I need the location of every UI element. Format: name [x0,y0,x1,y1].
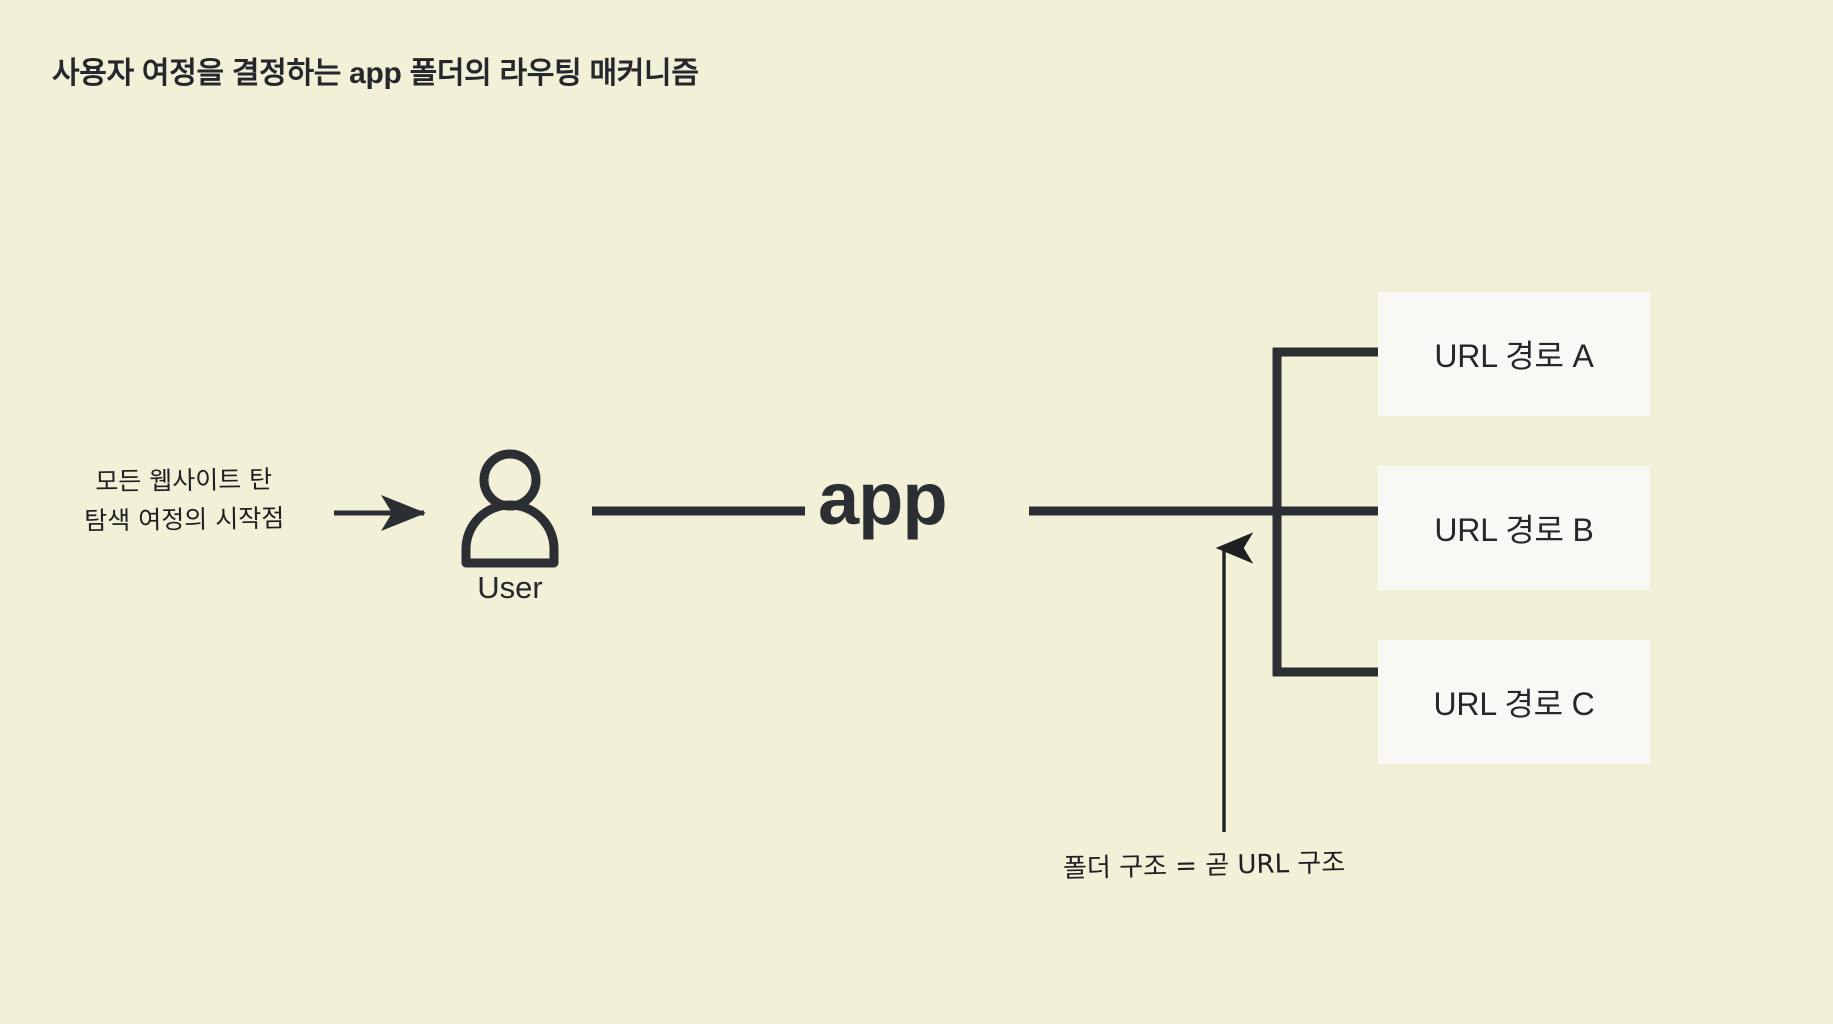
url-path-box-c[interactable]: URL 경로 C [1378,640,1650,764]
annotation-folder-structure: 폴더 구조 = 곧 URL 구조 [1063,842,1346,885]
annotation-start-point: 모든 웹사이트 탄 탐색 여정의 시작점 [47,460,320,541]
url-path-box-a[interactable]: URL 경로 A [1378,292,1650,416]
annotation-start-point-line2: 탐색 여정의 시작점 [48,499,321,542]
app-label: app [818,462,947,536]
user-label: User [440,570,580,606]
url-path-label-c: URL 경로 C [1434,679,1595,725]
diagram-canvas: 사용자 여정을 결정하는 app 폴더의 라우팅 매커니즘 [0,0,1833,1024]
annotation-start-point-line1: 모든 웹사이트 탄 [47,460,320,503]
user-icon [453,448,567,568]
url-path-label-b: URL 경로 B [1434,505,1593,551]
url-path-label-a: URL 경로 A [1434,331,1593,377]
url-path-box-b[interactable]: URL 경로 B [1378,466,1650,590]
node-user: User [440,448,580,608]
